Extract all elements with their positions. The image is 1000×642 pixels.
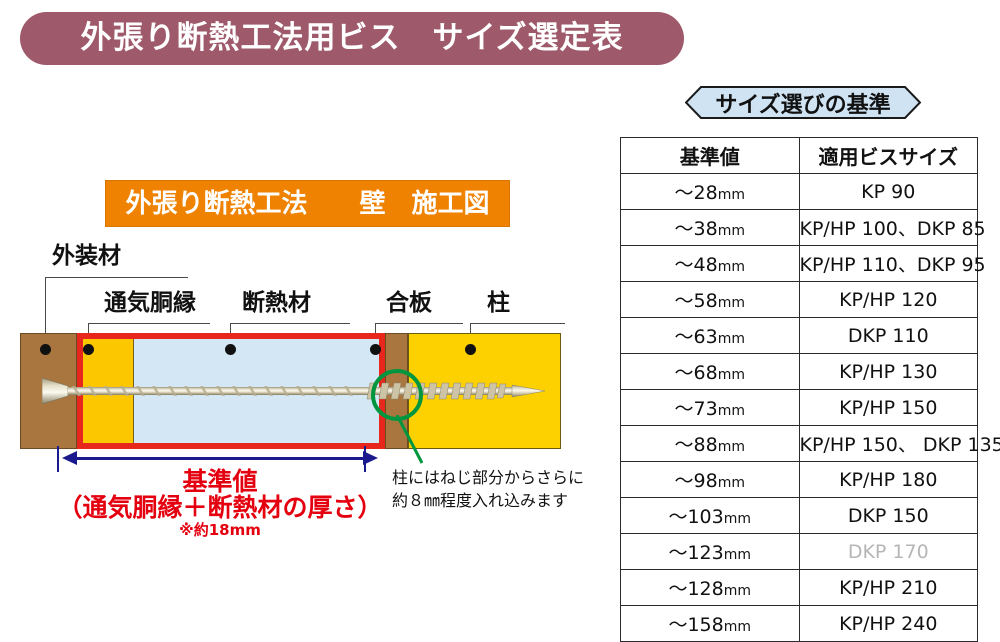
label-plywood: 合板 <box>386 292 432 315</box>
table-row: ～28mmKP 90 <box>621 174 978 210</box>
column-header-standard: 基準値 <box>621 138 800 174</box>
table-body: ～28mmKP 90～38mmKP/HP 100、DKP 85～48mmKP/H… <box>621 174 978 642</box>
table-row: ～58mmKP/HP 120 <box>621 282 978 318</box>
leader-line-pillar-h <box>470 323 565 324</box>
table-row: ～38mmKP/HP 100、DKP 85 <box>621 210 978 246</box>
page-root: 外張り断熱工法用ビス サイズ選定表 外張り断熱工法 壁 施工図 外装材 通気胴縁… <box>0 0 1000 623</box>
diagram-banner: 外張り断熱工法 壁 施工図 <box>105 180 510 227</box>
callout-text: 柱にはねじ部分からさらに 約８㎜程度入れ込みます <box>392 466 584 512</box>
leader-line-exterior-v <box>45 277 46 340</box>
cell-standard-value: ～73mm <box>621 390 800 426</box>
dimension-arrowhead-left <box>62 451 77 465</box>
table-header-row: 基準値 適用ビスサイズ <box>621 138 978 174</box>
cell-screw-size: KP/HP 180 <box>799 462 978 498</box>
table-row: ～103mmDKP 150 <box>621 498 978 534</box>
callout-text-line1: 柱にはねじ部分からさらに <box>392 466 584 489</box>
layer-insulation-material <box>134 339 379 443</box>
table-row: ～158mmKP/HP 240 <box>621 606 978 642</box>
cell-screw-size: KP/HP 240 <box>799 606 978 642</box>
table-row: ～48mmKP/HP 110、DKP 95 <box>621 246 978 282</box>
cell-screw-size: KP/HP 150 <box>799 390 978 426</box>
diagram-banner-label: 外張り断熱工法 壁 施工図 <box>125 191 489 217</box>
label-furring: 通気胴縁 <box>104 292 196 315</box>
cell-screw-size: KP/HP 150、 DKP 135 <box>799 426 978 462</box>
table-row: ～63mmDKP 110 <box>621 318 978 354</box>
criteria-ribbon-label: サイズ選びの基準 <box>685 86 921 119</box>
cell-standard-value: ～48mm <box>621 246 800 282</box>
leader-line-exterior-h <box>45 277 188 278</box>
dimension-label-secondary: （通気胴縁＋断熱材の厚さ） <box>0 494 440 523</box>
callout-leader-line <box>380 415 440 465</box>
callout-circle-icon <box>371 369 423 421</box>
table-row: ～73mmKP/HP 150 <box>621 390 978 426</box>
cell-screw-size: KP/HP 210 <box>799 570 978 606</box>
cell-standard-value: ～158mm <box>621 606 800 642</box>
table-row: ～88mmKP/HP 150、 DKP 135 <box>621 426 978 462</box>
cell-standard-value: ～98mm <box>621 462 800 498</box>
cell-standard-value: ～38mm <box>621 210 800 246</box>
marker-dot-plywood <box>370 344 381 355</box>
dimension-line <box>76 457 366 460</box>
dimension-arrowhead-right <box>363 451 378 465</box>
column-header-size: 適用ビスサイズ <box>799 138 978 174</box>
marker-dot-insulation <box>225 344 236 355</box>
callout-text-line2: 約８㎜程度入れ込みます <box>392 489 584 512</box>
table-head: 基準値 適用ビスサイズ <box>621 138 978 174</box>
marker-dot-exterior <box>40 344 51 355</box>
layer-ventilation-furring <box>83 339 134 443</box>
table-row: ～98mmKP/HP 180 <box>621 462 978 498</box>
leader-line-insulation-h <box>230 323 350 324</box>
cell-standard-value: ～88mm <box>621 426 800 462</box>
cell-screw-size: DKP 170 <box>799 534 978 570</box>
cell-screw-size: DKP 150 <box>799 498 978 534</box>
cell-standard-value: ～58mm <box>621 282 800 318</box>
cell-standard-value: ～128mm <box>621 570 800 606</box>
label-pillar: 柱 <box>487 292 510 315</box>
cell-screw-size: KP 90 <box>799 174 978 210</box>
cell-screw-size: KP/HP 110、DKP 95 <box>799 246 978 282</box>
leader-line-furring-h <box>88 323 210 324</box>
cell-screw-size: DKP 110 <box>799 318 978 354</box>
page-title: 外張り断熱工法用ビス サイズ選定表 <box>80 23 623 54</box>
marker-dot-furring <box>83 344 94 355</box>
cell-screw-size: KP/HP 130 <box>799 354 978 390</box>
cell-screw-size: KP/HP 100、DKP 85 <box>799 210 978 246</box>
cell-standard-value: ～103mm <box>621 498 800 534</box>
leader-line-plywood-h <box>375 323 463 324</box>
page-title-banner: 外張り断熱工法用ビス サイズ選定表 <box>20 12 684 65</box>
table-row: ～128mmKP/HP 210 <box>621 570 978 606</box>
marker-dot-pillar <box>465 344 476 355</box>
dimension-label-note: ※約18mm <box>0 522 440 539</box>
label-insulation: 断熱材 <box>242 292 311 315</box>
table-row: ～68mmKP/HP 130 <box>621 354 978 390</box>
cell-standard-value: ～123mm <box>621 534 800 570</box>
cell-standard-value: ～63mm <box>621 318 800 354</box>
cell-standard-value: ～68mm <box>621 354 800 390</box>
label-exterior: 外装材 <box>52 245 121 268</box>
cell-standard-value: ～28mm <box>621 174 800 210</box>
size-selection-table: 基準値 適用ビスサイズ ～28mmKP 90～38mmKP/HP 100、DKP… <box>620 137 978 642</box>
cell-screw-size: KP/HP 120 <box>799 282 978 318</box>
table-row: ～123mmDKP 170 <box>621 534 978 570</box>
